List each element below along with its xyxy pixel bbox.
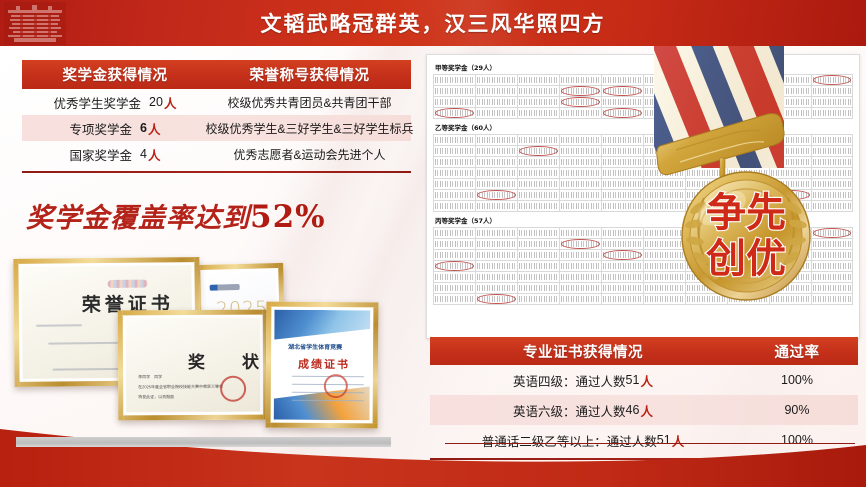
name-text [561,99,600,105]
certificate-frame: 湖北省学生体育竞赛 成绩证书 [266,302,379,429]
name-cell [475,282,517,293]
name-cell [601,293,643,304]
certificate-seal-icon [220,376,246,402]
name-cell [601,74,643,85]
name-text [561,252,600,258]
name-text [561,296,600,302]
coverage-value: 52% [250,199,326,235]
scholarship-unit: 人 [147,145,161,164]
table-underline [22,171,411,173]
name-cell [433,282,475,293]
honor-cell: 校级优秀学生&三好学生&三好学生标兵 [208,115,411,141]
scholarship-unit: 人 [163,93,177,112]
honor-col-header: 荣誉称号获得情况 [208,60,411,89]
name-cell [475,107,517,118]
name-cell [517,238,559,249]
name-text [435,230,474,236]
name-cell [601,145,643,156]
name-cell [601,282,643,293]
name-text [603,148,642,154]
certificate-count: 46 [626,403,640,417]
name-text [561,274,600,280]
name-cell [517,227,559,238]
scholarship-name: 专项奖学金 [70,119,133,138]
name-cell [475,167,517,178]
scholarship-name: 优秀学生奖学金 [54,93,142,112]
name-text [603,203,642,209]
name-cell [559,271,601,282]
certificate-seal-icon [324,374,348,398]
name-text [435,274,474,280]
name-cell [433,227,475,238]
table-row: 英语六级：通过人数 46人 90% [430,395,858,425]
scholarship-cell: 专项奖学金 6人 [22,115,208,141]
name-cell [517,260,559,271]
name-cell [601,134,643,145]
name-text [519,203,558,209]
name-text [435,170,474,176]
name-cell [475,96,517,107]
name-text [603,263,642,269]
name-cell [517,134,559,145]
name-text [519,99,558,105]
name-cell [517,156,559,167]
name-cell [517,85,559,96]
name-text [603,241,642,247]
name-text [519,296,558,302]
name-cell [517,293,559,304]
certificate-title: 成绩证书 [298,356,350,372]
name-cell [475,249,517,260]
name-text [477,263,516,269]
name-text [603,99,642,105]
name-cell [517,200,559,211]
name-cell [601,156,643,167]
name-cell [433,271,475,282]
name-cell [559,249,601,260]
name-text [477,77,516,83]
name-text [561,263,600,269]
certificate-shelf [16,437,391,447]
certificate-item-label: 英语六级：通过人数 [513,401,626,420]
certificate-decoration-icon [108,280,148,288]
name-cell [517,74,559,85]
name-cell [433,107,475,118]
name-cell [559,189,601,200]
name-text [603,88,642,94]
certificate-paper: 奖 状 李同学 同学 在2025年度全省职业院校技能大赛中荣获三等奖 特发此证，… [126,318,260,413]
name-cell [517,178,559,189]
certificate-unit: 人 [639,371,653,390]
name-text [603,159,642,165]
name-cell [475,200,517,211]
name-cell [517,249,559,260]
slide-canvas: 文韬武略冠群英，汉三风华照四方 奖学金获得情况 荣誉称号获得情况 优秀学生奖学金… [0,0,866,487]
name-text [561,159,600,165]
name-text [435,285,474,291]
name-text [561,137,600,143]
name-text [477,148,516,154]
name-text [519,181,558,187]
name-cell [601,85,643,96]
scholarship-table-header: 奖学金获得情况 荣誉称号获得情况 [22,60,411,89]
name-text [561,230,600,236]
name-cell [475,271,517,282]
name-cell [559,134,601,145]
certificate-item-cell: 英语四级：通过人数 51人 [430,365,736,395]
scholarship-table: 奖学金获得情况 荣誉称号获得情况 优秀学生奖学金 20人 校级优秀共青团员&共青… [22,60,411,173]
name-text [477,192,516,198]
name-cell [559,167,601,178]
name-text [477,110,516,116]
name-text [519,274,558,280]
certificate-table-header: 专业证书获得情况 通过率 [430,337,858,365]
name-text [519,170,558,176]
name-text [519,148,558,154]
name-text [435,263,474,269]
name-cell [475,145,517,156]
name-text [519,263,558,269]
name-text [477,159,516,165]
name-cell [601,189,643,200]
name-text [603,170,642,176]
name-cell [475,238,517,249]
name-cell [559,85,601,96]
name-text [435,88,474,94]
certificate-frame: 奖 状 李同学 同学 在2025年度全省职业院校技能大赛中荣获三等奖 特发此证，… [118,310,269,421]
name-cell [601,238,643,249]
table-row: 专项奖学金 6人 校级优秀学生&三好学生&三好学生标兵 [22,115,411,141]
name-text [519,159,558,165]
certificate-top-band [274,310,370,341]
certificate-title: 奖 状 [188,348,260,373]
certificate-organization: 湖北省学生体育竞赛 [288,342,342,351]
name-cell [517,107,559,118]
pass-rate-col-header: 通过率 [736,337,858,365]
name-text [435,148,474,154]
name-text [561,203,600,209]
name-cell [475,74,517,85]
name-text [477,181,516,187]
name-cell [601,107,643,118]
certificate-item-cell: 英语六级：通过人数 46人 [430,395,736,425]
name-cell [601,200,643,211]
name-text [603,110,642,116]
name-cell [559,145,601,156]
name-text [519,110,558,116]
footer-hairline [445,443,855,444]
name-text [603,181,642,187]
name-text [603,137,642,143]
name-cell [433,134,475,145]
name-cell [601,271,643,282]
name-cell [517,145,559,156]
name-text [561,192,600,198]
pass-rate-cell: 90% [736,395,858,425]
name-text [603,296,642,302]
name-cell [517,282,559,293]
name-text [519,252,558,258]
publisher-logo-icon [210,284,240,291]
scholarship-count: 6 [140,121,147,135]
name-cell [559,107,601,118]
name-text [477,99,516,105]
name-text [603,192,642,198]
name-text [435,241,474,247]
banner-title: 文韬武略冠群英，汉三风华照四方 [0,0,866,46]
name-text [519,77,558,83]
name-text [477,252,516,258]
name-text [477,170,516,176]
name-text [435,192,474,198]
name-text [519,192,558,198]
name-text [477,203,516,209]
name-cell [559,156,601,167]
name-text [561,148,600,154]
name-cell [559,282,601,293]
name-cell [601,227,643,238]
name-cell [517,96,559,107]
name-text [477,285,516,291]
name-text [603,274,642,280]
name-cell [475,85,517,96]
name-cell [475,260,517,271]
name-cell [433,293,475,304]
name-cell [517,189,559,200]
name-cell [433,178,475,189]
name-text [477,230,516,236]
name-cell [601,167,643,178]
name-text [603,252,642,258]
name-cell [517,271,559,282]
coverage-label: 奖学金覆盖率达到 [26,203,250,234]
certificate-col-header: 专业证书获得情况 [430,337,736,365]
name-text [435,137,474,143]
name-cell [559,293,601,304]
name-text [561,88,600,94]
scholarship-count: 20 [149,95,163,109]
name-text [477,241,516,247]
name-cell [475,293,517,304]
name-cell [601,249,643,260]
name-text [519,137,558,143]
name-text [435,181,474,187]
name-cell [433,156,475,167]
name-cell [433,74,475,85]
name-text [561,170,600,176]
name-cell [475,134,517,145]
name-cell [475,178,517,189]
name-text [435,159,474,165]
name-text [435,99,474,105]
scholarship-unit: 人 [147,119,161,138]
name-cell [559,260,601,271]
name-text [603,285,642,291]
footer-red-curve [0,423,866,487]
certificate-count: 51 [626,373,640,387]
name-cell [559,178,601,189]
name-text [561,241,600,247]
table-row: 英语四级：通过人数 51人 100% [430,365,858,395]
name-text [435,110,474,116]
certificate-unit: 人 [639,401,653,420]
name-text [561,77,600,83]
name-cell [433,249,475,260]
certificate-bottom-band [274,386,370,421]
name-text [435,252,474,258]
name-text [561,110,600,116]
name-text [561,181,600,187]
name-text [603,230,642,236]
name-cell [433,145,475,156]
score-certificate-photo: 湖北省学生体育竞赛 成绩证书 [266,302,379,429]
name-cell [433,96,475,107]
medal-text-line1: 争先 [706,189,786,236]
gold-medal-icon: 争先 创优 [646,46,866,302]
certificate-paper: 湖北省学生体育竞赛 成绩证书 [274,310,371,421]
scholarship-col-header: 奖学金获得情况 [22,60,208,89]
scholarship-cell: 国家奖学金 4人 [22,141,208,167]
table-row: 优秀学生奖学金 20人 校级优秀共青团员&共青团干部 [22,89,411,115]
honor-cell: 优秀志愿者&运动会先进个人 [208,141,411,167]
name-cell [601,260,643,271]
name-cell [433,85,475,96]
name-cell [475,189,517,200]
name-text [477,137,516,143]
name-text [477,296,516,302]
name-text [519,88,558,94]
name-cell [433,200,475,211]
name-cell [433,260,475,271]
name-cell [559,227,601,238]
name-text [435,77,474,83]
scholarship-cell: 优秀学生奖学金 20人 [22,89,208,115]
name-text [435,203,474,209]
name-cell [559,96,601,107]
top-banner: 文韬武略冠群英，汉三风华照四方 [0,0,866,46]
name-text [477,88,516,94]
table-row: 国家奖学金 4人 优秀志愿者&运动会先进个人 [22,141,411,167]
name-cell [601,96,643,107]
name-text [603,77,642,83]
name-text [519,285,558,291]
scholarship-name: 国家奖学金 [70,145,133,164]
name-cell [433,167,475,178]
name-text [477,274,516,280]
medal-text-line2: 创优 [706,235,786,282]
name-cell [517,167,559,178]
name-text [519,230,558,236]
name-cell [559,238,601,249]
award-certificate-photo: 奖 状 李同学 同学 在2025年度全省职业院校技能大赛中荣获三等奖 特发此证，… [118,310,269,421]
name-cell [433,189,475,200]
name-text [435,296,474,302]
name-text [519,241,558,247]
name-cell [559,200,601,211]
name-cell [559,74,601,85]
pass-rate-cell: 100% [736,365,858,395]
name-cell [475,156,517,167]
name-text [561,285,600,291]
name-cell [475,227,517,238]
name-cell [601,178,643,189]
coverage-headline: 奖学金覆盖率达到52% [26,196,326,235]
honor-cell: 校级优秀共青团员&共青团干部 [208,89,411,115]
name-cell [433,238,475,249]
certificate-item-label: 英语四级：通过人数 [513,371,626,390]
scholarship-count: 4 [140,147,147,161]
